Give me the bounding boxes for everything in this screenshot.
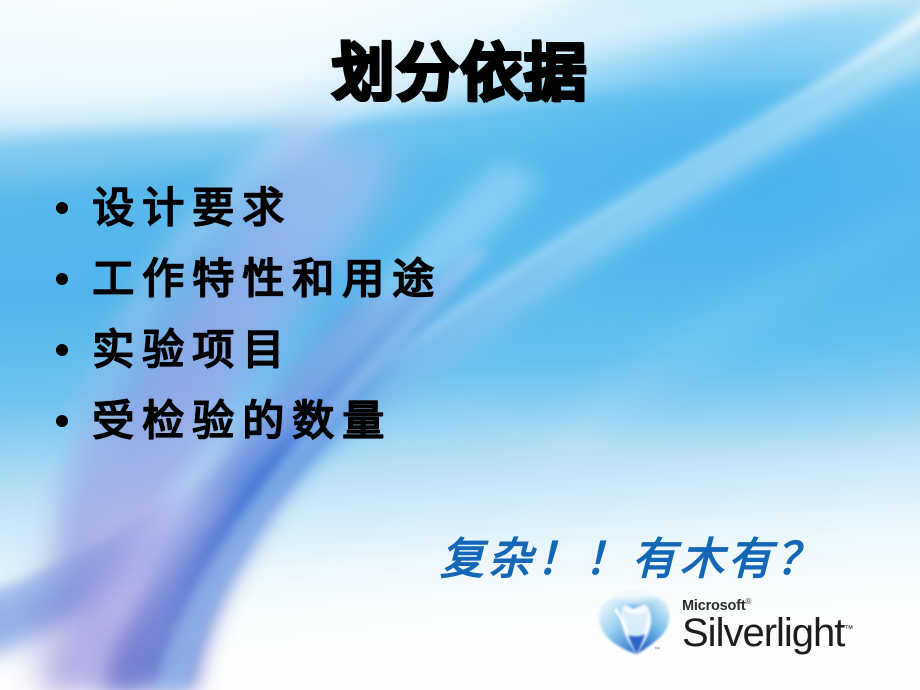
list-item: 工作特性和用途 xyxy=(56,243,442,314)
slide-content: 划分依据 设计要求 工作特性和用途 实验项目 受检验的数量 复杂！！有木有？ xyxy=(0,0,920,690)
silverlight-product-text: Silverlight™ xyxy=(682,613,853,654)
presentation-slide: 划分依据 设计要求 工作特性和用途 实验项目 受检验的数量 复杂！！有木有？ xyxy=(0,0,920,690)
list-item: 设计要求 xyxy=(56,172,442,243)
bullet-text: 受检验的数量 xyxy=(92,400,392,442)
bullet-text: 实验项目 xyxy=(92,329,292,371)
bullet-dot-icon xyxy=(56,273,68,285)
slide-title: 划分依据 xyxy=(0,40,920,108)
svg-text:™: ™ xyxy=(654,646,660,653)
trademark-mark: ™ xyxy=(844,623,853,633)
bullet-dot-icon xyxy=(56,415,68,427)
silverlight-label: Silverlight xyxy=(682,611,844,655)
list-item: 实验项目 xyxy=(56,314,442,385)
microsoft-label: Microsoft xyxy=(682,598,745,614)
bullet-text: 设计要求 xyxy=(92,187,292,229)
bullet-text: 工作特性和用途 xyxy=(92,258,442,300)
bullet-dot-icon xyxy=(56,202,68,214)
silverlight-swirl-icon: ™ xyxy=(592,585,676,661)
list-item: 受检验的数量 xyxy=(56,385,442,456)
bullet-list: 设计要求 工作特性和用途 实验项目 受检验的数量 xyxy=(56,172,442,456)
registered-mark: ® xyxy=(745,597,751,606)
tagline-text: 复杂！！有木有？ xyxy=(440,538,824,582)
silverlight-wordmark: Microsoft® Silverlight™ xyxy=(682,598,853,653)
microsoft-brand-text: Microsoft® xyxy=(682,598,853,613)
silverlight-logo: ™ Microsoft® Silverlight™ xyxy=(592,583,882,663)
bullet-dot-icon xyxy=(56,344,68,356)
